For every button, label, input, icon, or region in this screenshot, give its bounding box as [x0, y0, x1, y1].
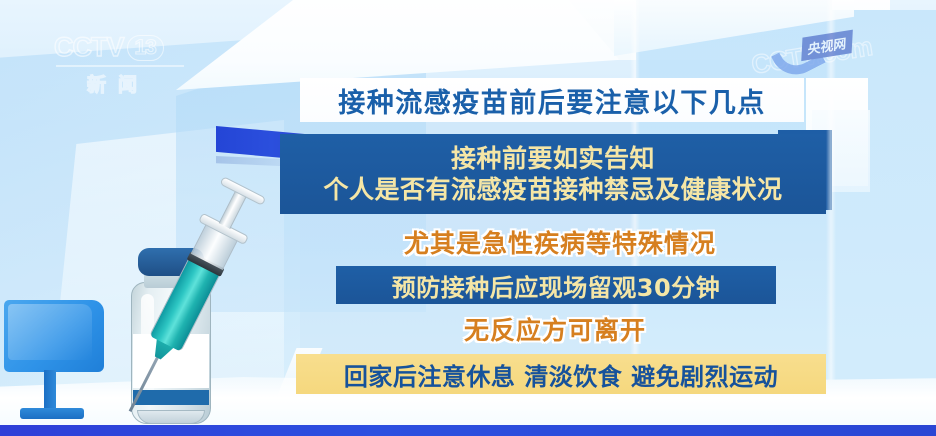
chair-highlight [8, 304, 92, 360]
info-line-advise-2: 个人是否有流感疫苗接种禁忌及健康状况 [323, 175, 782, 205]
info-line-home: 回家后注意休息 清淡饮食 避免剧烈运动 [344, 357, 778, 392]
info-line-observe: 预防接种后应现场留观30分钟 [392, 268, 720, 303]
cctv-channel-name: 新闻 [54, 70, 182, 97]
info-line-advise-1: 接种前要如实告知 [451, 144, 655, 174]
cctv13-channel-logo: CCTV 13 新闻 [54, 32, 194, 94]
cctv-channel-number: 13 [127, 35, 164, 61]
info-block-advise: 接种前要如实告知 个人是否有流感疫苗接种禁忌及健康状况 [280, 134, 826, 214]
cctv-logo-rule [56, 65, 184, 67]
headline-title: 接种流感疫苗前后要注意以下几点 [338, 81, 766, 120]
broadcast-graphic-stage: CCTV 13 新闻 CCTV.com 央视网 接种流感疫苗前后要注意以下几点 … [0, 0, 936, 436]
background-floor-strip [0, 425, 936, 436]
syringe-liquid [149, 259, 220, 352]
vial-base [137, 410, 205, 424]
headline-banner: 接种流感疫苗前后要注意以下几点 [300, 78, 804, 122]
info-block-observe: 预防接种后应现场留观30分钟 [336, 266, 776, 304]
info-line-acute: 尤其是急性疾病等特殊情况 [404, 224, 716, 260]
info-block-acute: 尤其是急性疾病等特殊情况 [340, 222, 780, 262]
chair-backrest [4, 300, 104, 372]
chair-foot [20, 408, 84, 419]
syringe-plunger-rod [219, 191, 247, 229]
info-block-home: 回家后注意休息 清淡饮食 避免剧烈运动 [296, 354, 826, 394]
cctv-logo-row: CCTV 13 [54, 32, 194, 63]
info-line-leave: 无反应方可离开 [464, 311, 646, 347]
chair-stem [44, 370, 56, 412]
info-block-leave: 无反应方可离开 [400, 310, 710, 348]
cctv-wordmark: CCTV [54, 32, 124, 63]
